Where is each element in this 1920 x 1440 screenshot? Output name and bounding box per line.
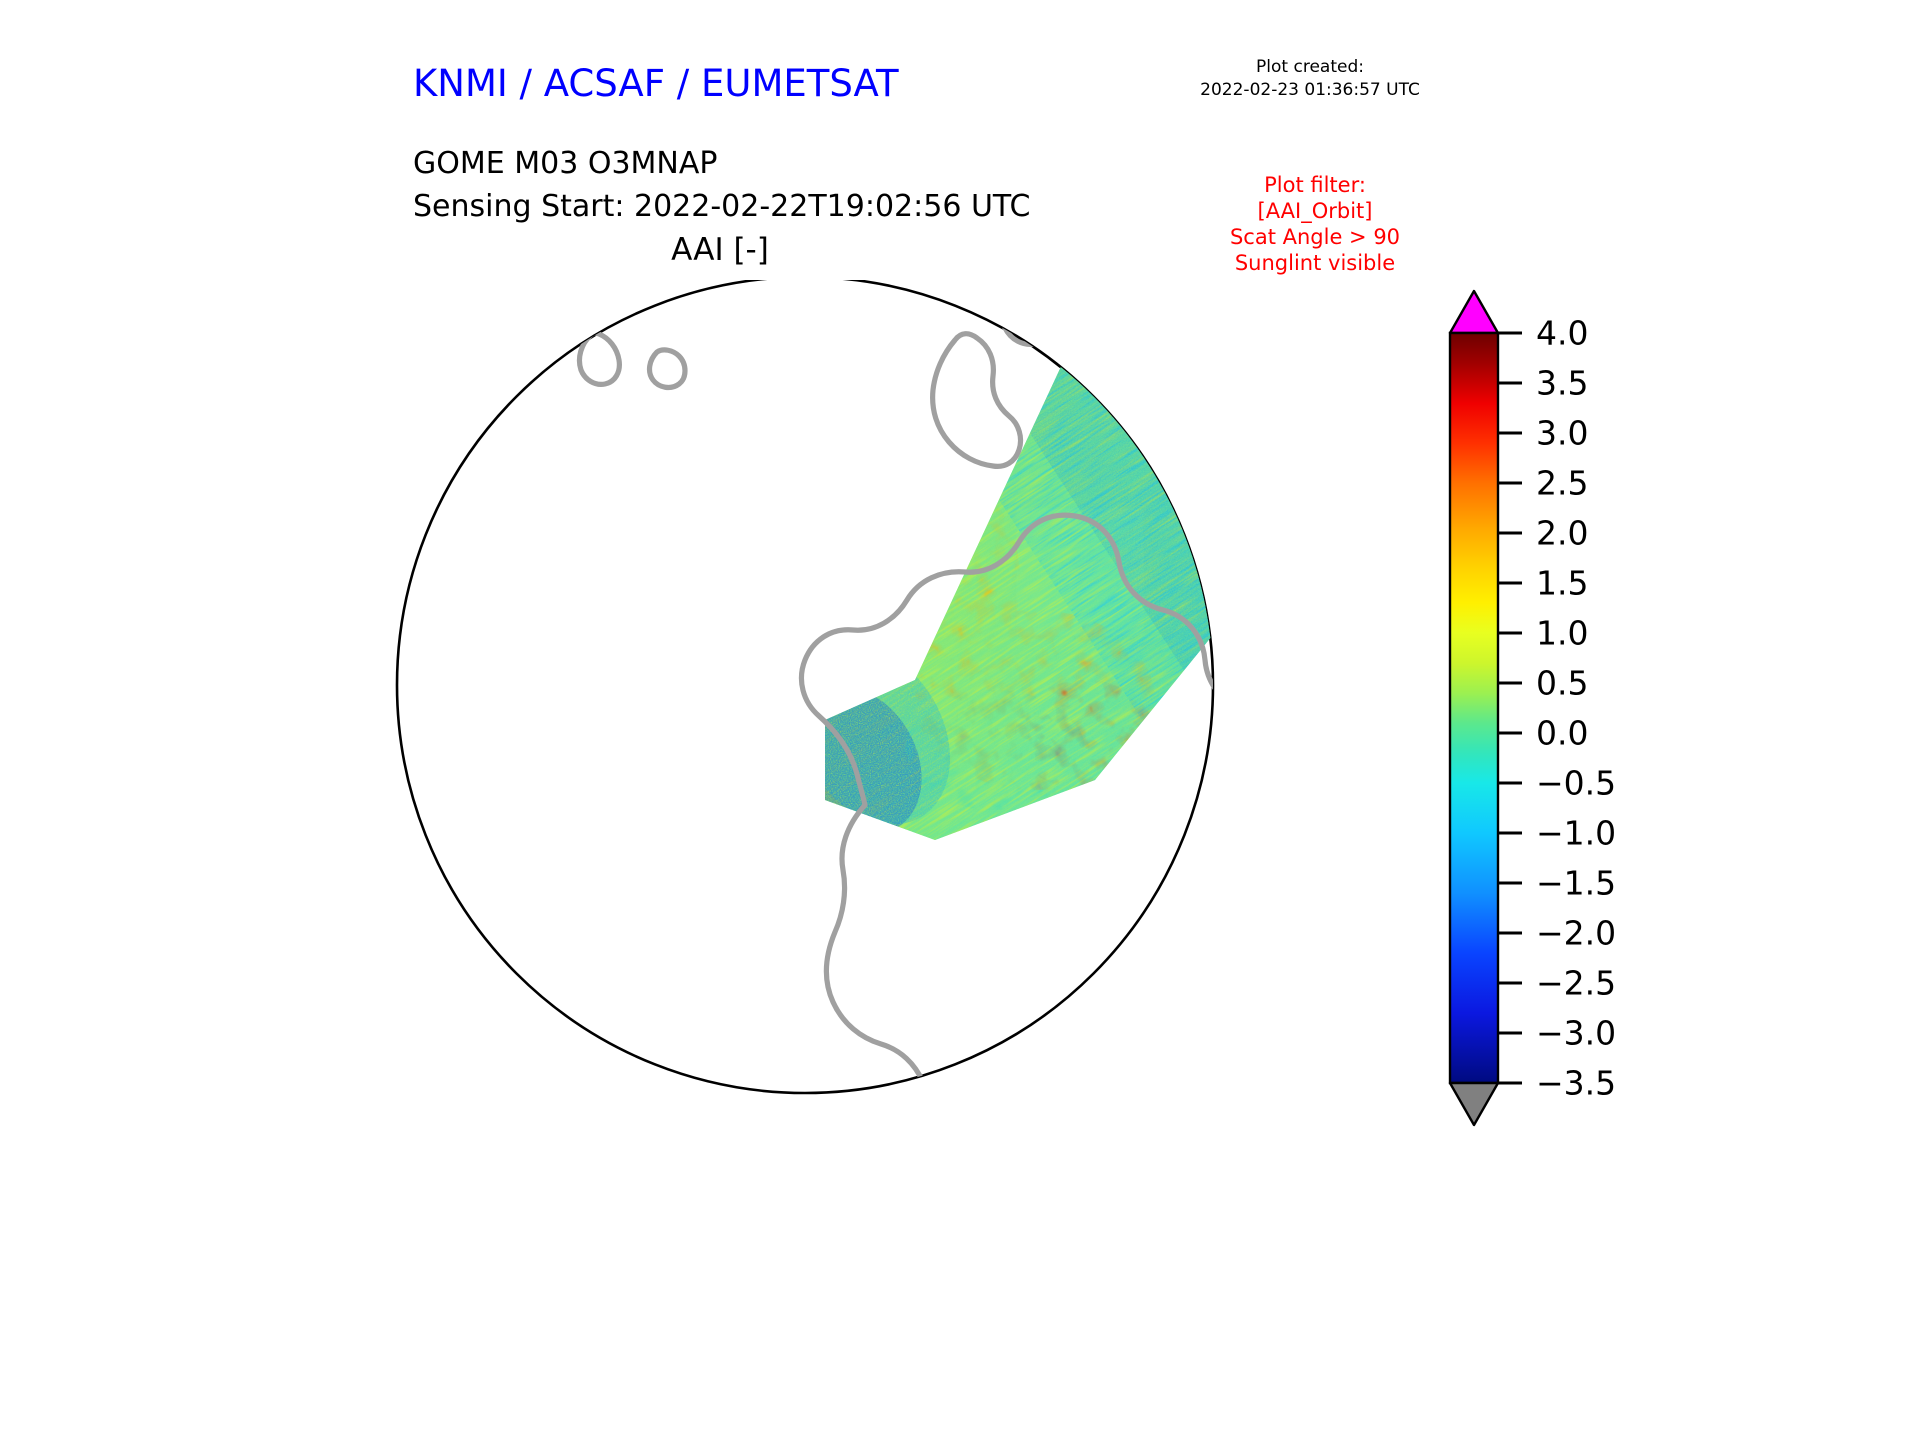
- scotia-arc: [1361, 820, 1425, 892]
- colorbar-under-arrow: [1450, 1083, 1498, 1125]
- polar-map: [395, 280, 1425, 1340]
- product-name: GOME M03 O3MNAP: [413, 142, 1030, 185]
- colorbar-tick-label-6: 1.0: [1536, 614, 1588, 653]
- subantarctic-island-3: [1181, 968, 1204, 992]
- south-america-tip: [1315, 750, 1423, 964]
- antarctic-peninsula: [1355, 894, 1415, 1070]
- colorbar-tick-label-3: 2.5: [1536, 464, 1588, 503]
- colorbar-tick-label-0: 4.0: [1536, 314, 1588, 353]
- plot-filter-line-0: Plot filter:: [1155, 172, 1475, 198]
- colorbar-tick-label-14: −3.0: [1536, 1014, 1616, 1053]
- plot-filter-line-2: Scat Angle > 90: [1155, 224, 1475, 250]
- colorbar-tick-label-1: 3.5: [1536, 364, 1588, 403]
- colorbar-tick-label-13: −2.5: [1536, 964, 1616, 1003]
- colorbar-tick-label-2: 3.0: [1536, 414, 1588, 453]
- brand-title: KNMI / ACSAF / EUMETSAT: [413, 62, 899, 105]
- new-zealand-north-island: [1002, 286, 1055, 344]
- plot-created-block: Plot created: 2022-02-23 01:36:57 UTC: [1160, 56, 1460, 102]
- product-info-block: GOME M03 O3MNAP Sensing Start: 2022-02-2…: [413, 142, 1030, 228]
- plot-filter-block: Plot filter: [AAI_Orbit] Scat Angle > 90…: [1155, 172, 1475, 276]
- colorbar-gradient: [1450, 333, 1498, 1083]
- colorbar-ticks: [1498, 333, 1522, 1083]
- map-svg: [395, 280, 1425, 1340]
- colorbar-tick-label-12: −2.0: [1536, 914, 1616, 953]
- plot-canvas: KNMI / ACSAF / EUMETSAT Plot created: 20…: [0, 0, 1920, 1440]
- colorbar-tick-label-8: 0.0: [1536, 714, 1588, 753]
- colorbar-tick-label-7: 0.5: [1536, 664, 1588, 703]
- subantarctic-island-2: [461, 1156, 487, 1185]
- colorbar-tick-label-10: −1.0: [1536, 814, 1616, 853]
- plot-created-label: Plot created:: [1160, 56, 1460, 79]
- plot-filter-line-3: Sunglint visible: [1155, 250, 1475, 276]
- colorbar-tick-label-9: −0.5: [1536, 764, 1616, 803]
- colorbar-tick-label-5: 1.5: [1536, 564, 1588, 603]
- plot-created-time: 2022-02-23 01:36:57 UTC: [1160, 79, 1460, 102]
- plot-filter-line-1: [AAI_Orbit]: [1155, 198, 1475, 224]
- colorbar-tick-label-11: −1.5: [1536, 864, 1616, 903]
- sensing-start: Sensing Start: 2022-02-22T19:02:56 UTC: [413, 185, 1030, 228]
- colorbar-over-arrow: [1450, 291, 1498, 333]
- colorbar-tick-label-4: 2.0: [1536, 514, 1588, 553]
- colorbar-tick-label-15: −3.5: [1536, 1064, 1616, 1103]
- colorbar: 4.0 3.5 3.0 2.5 2.0 1.5 1.0 0.5 0.0 −0.5…: [1440, 285, 1670, 1355]
